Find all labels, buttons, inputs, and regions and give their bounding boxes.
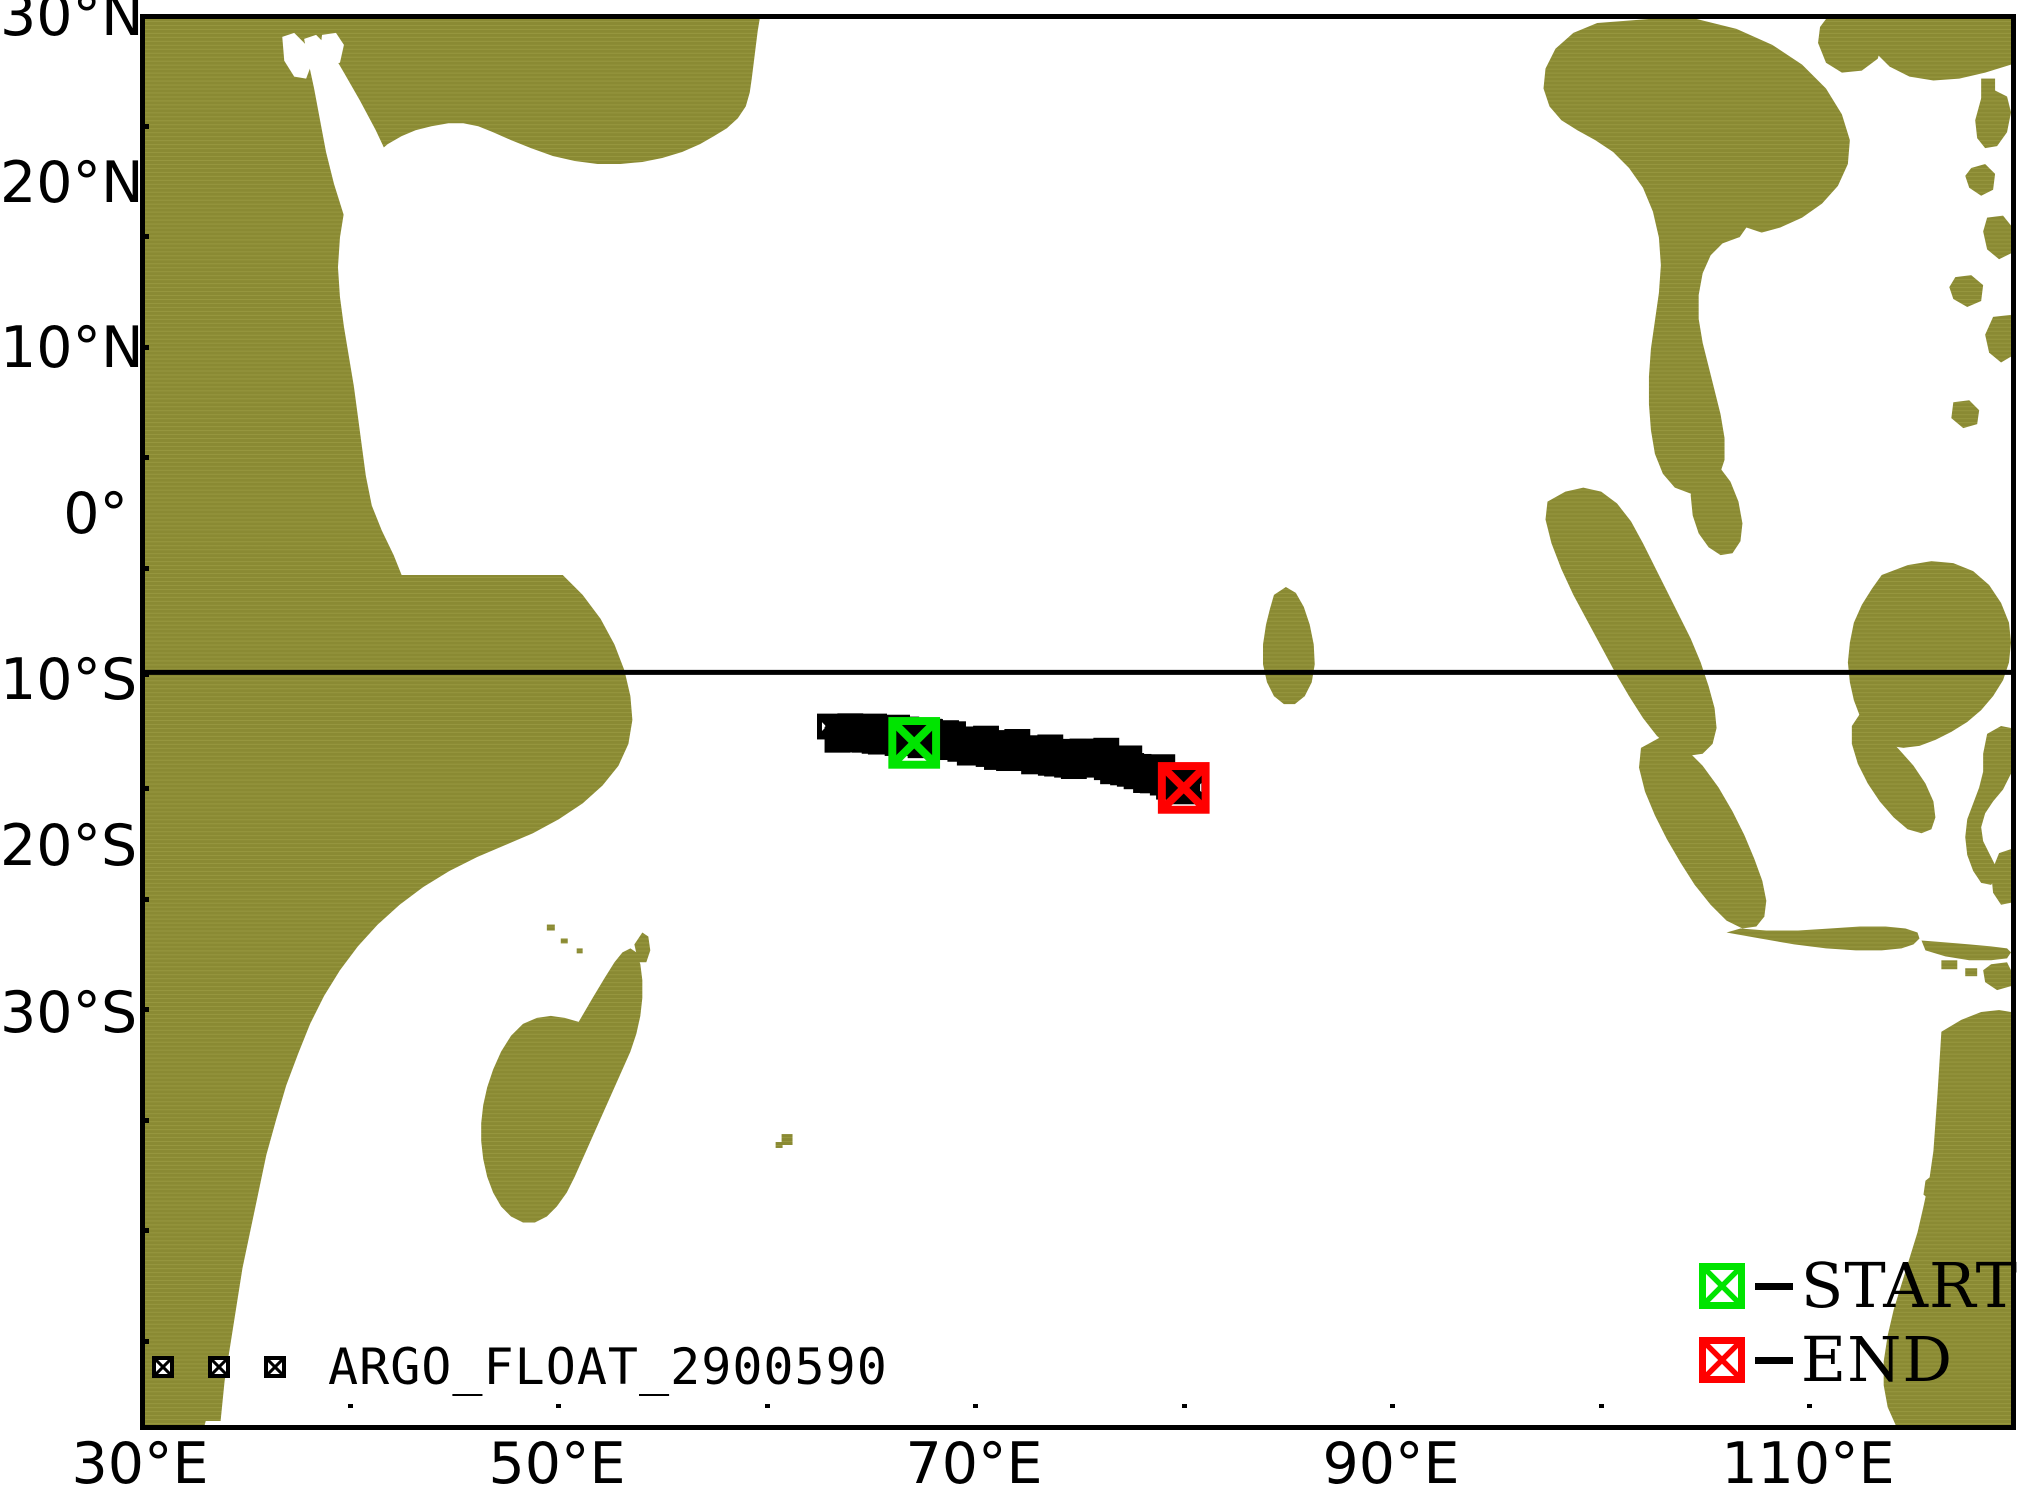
x-axis-label-110e: 110°E (1721, 1436, 1894, 1493)
map-plot-area[interactable] (140, 14, 2016, 1430)
legend-item-end[interactable]: END (1699, 1329, 1953, 1391)
legend-start-label: START (1801, 1255, 2018, 1317)
legend-track[interactable]: ARGO_FLOAT_2900590 (152, 1342, 888, 1392)
figure-canvas: 30°N 20°N 10°N 0° 10°S 20°S 30°S 30°E 50… (0, 0, 2026, 1494)
y-axis-label-20s: 20°S (0, 818, 128, 875)
y-axis-label-10n: 10°N (0, 320, 128, 377)
x-axis-label-90e: 90°E (1322, 1436, 1459, 1493)
legend-dash-icon (1755, 1357, 1793, 1364)
square-x-marker-icon (1699, 1263, 1745, 1309)
argo-float-track[interactable] (145, 19, 2011, 1425)
square-x-marker-icon (152, 1356, 174, 1378)
x-axis-label-70e: 70°E (905, 1436, 1042, 1493)
x-axis-label-50e: 50°E (488, 1436, 625, 1493)
square-x-marker-icon (1699, 1337, 1745, 1383)
square-x-marker-icon (264, 1356, 286, 1378)
legend-end-label: END (1801, 1329, 1953, 1391)
legend-item-start[interactable]: START (1699, 1255, 2018, 1317)
square-x-marker-icon (208, 1356, 230, 1378)
y-axis-label-10s: 10°S (0, 652, 128, 709)
y-axis-label-30s: 30°S (0, 985, 128, 1042)
y-axis-label-30n: 30°N (0, 0, 128, 45)
legend-track-label: ARGO_FLOAT_2900590 (328, 1342, 888, 1392)
legend-start-end[interactable]: START END (1699, 1255, 2018, 1391)
y-axis-label-0: 0° (0, 486, 128, 543)
y-axis-label-20n: 20°N (0, 155, 128, 212)
x-axis-label-30e: 30°E (71, 1436, 208, 1493)
track-svg (145, 19, 2011, 1425)
legend-dash-icon (1755, 1283, 1793, 1290)
